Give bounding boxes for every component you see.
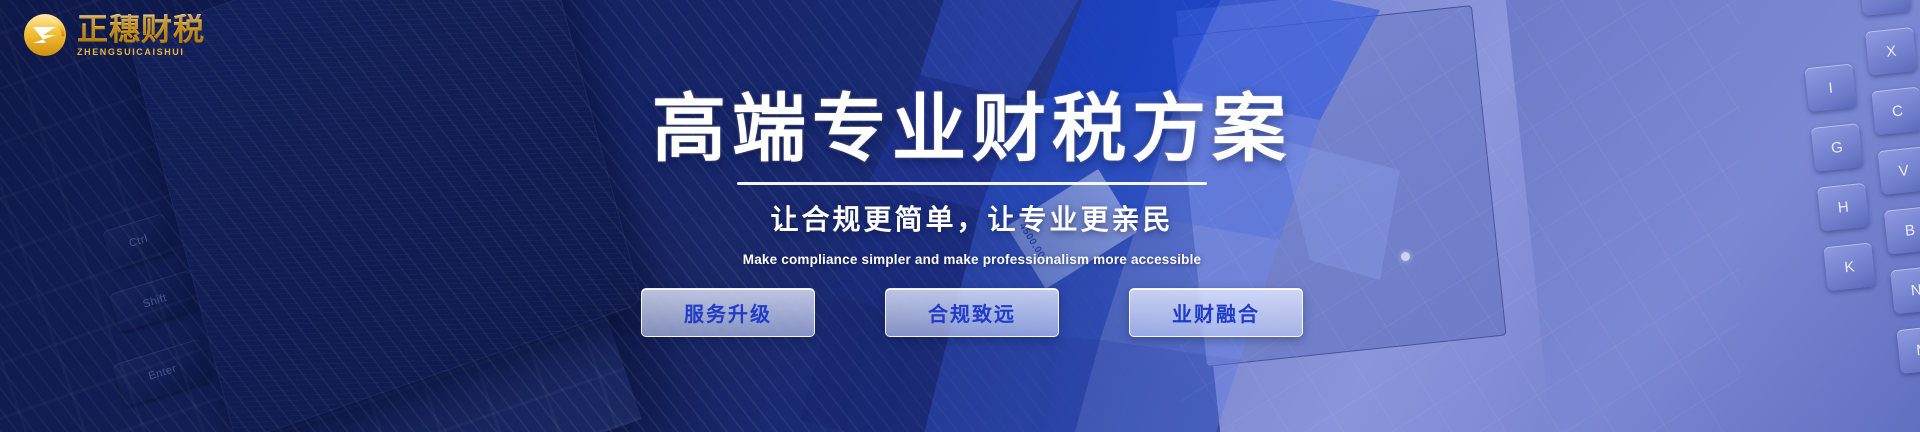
hero-tagline-en: Make compliance simpler and make profess… (743, 252, 1202, 267)
button-service-upgrade[interactable]: 服务升级 (641, 288, 815, 337)
button-compliance[interactable]: 合规致远 (885, 288, 1059, 337)
hero-divider (737, 182, 1207, 185)
promo-banner: ⌘ X C V B N M G H K I Ctrl Shift Enter (0, 0, 1920, 432)
hero-headline: 高端专业财税方案 (652, 92, 1292, 166)
button-finance-merge[interactable]: 业财融合 (1129, 288, 1303, 337)
hero-content: 高端专业财税方案 让合规更简单，让专业更亲民 Make compliance s… (0, 0, 1920, 432)
hero-button-row: 服务升级 合规致远 业财融合 (641, 288, 1303, 337)
hero-subtitle: 让合规更简单，让专业更亲民 (770, 198, 1173, 238)
